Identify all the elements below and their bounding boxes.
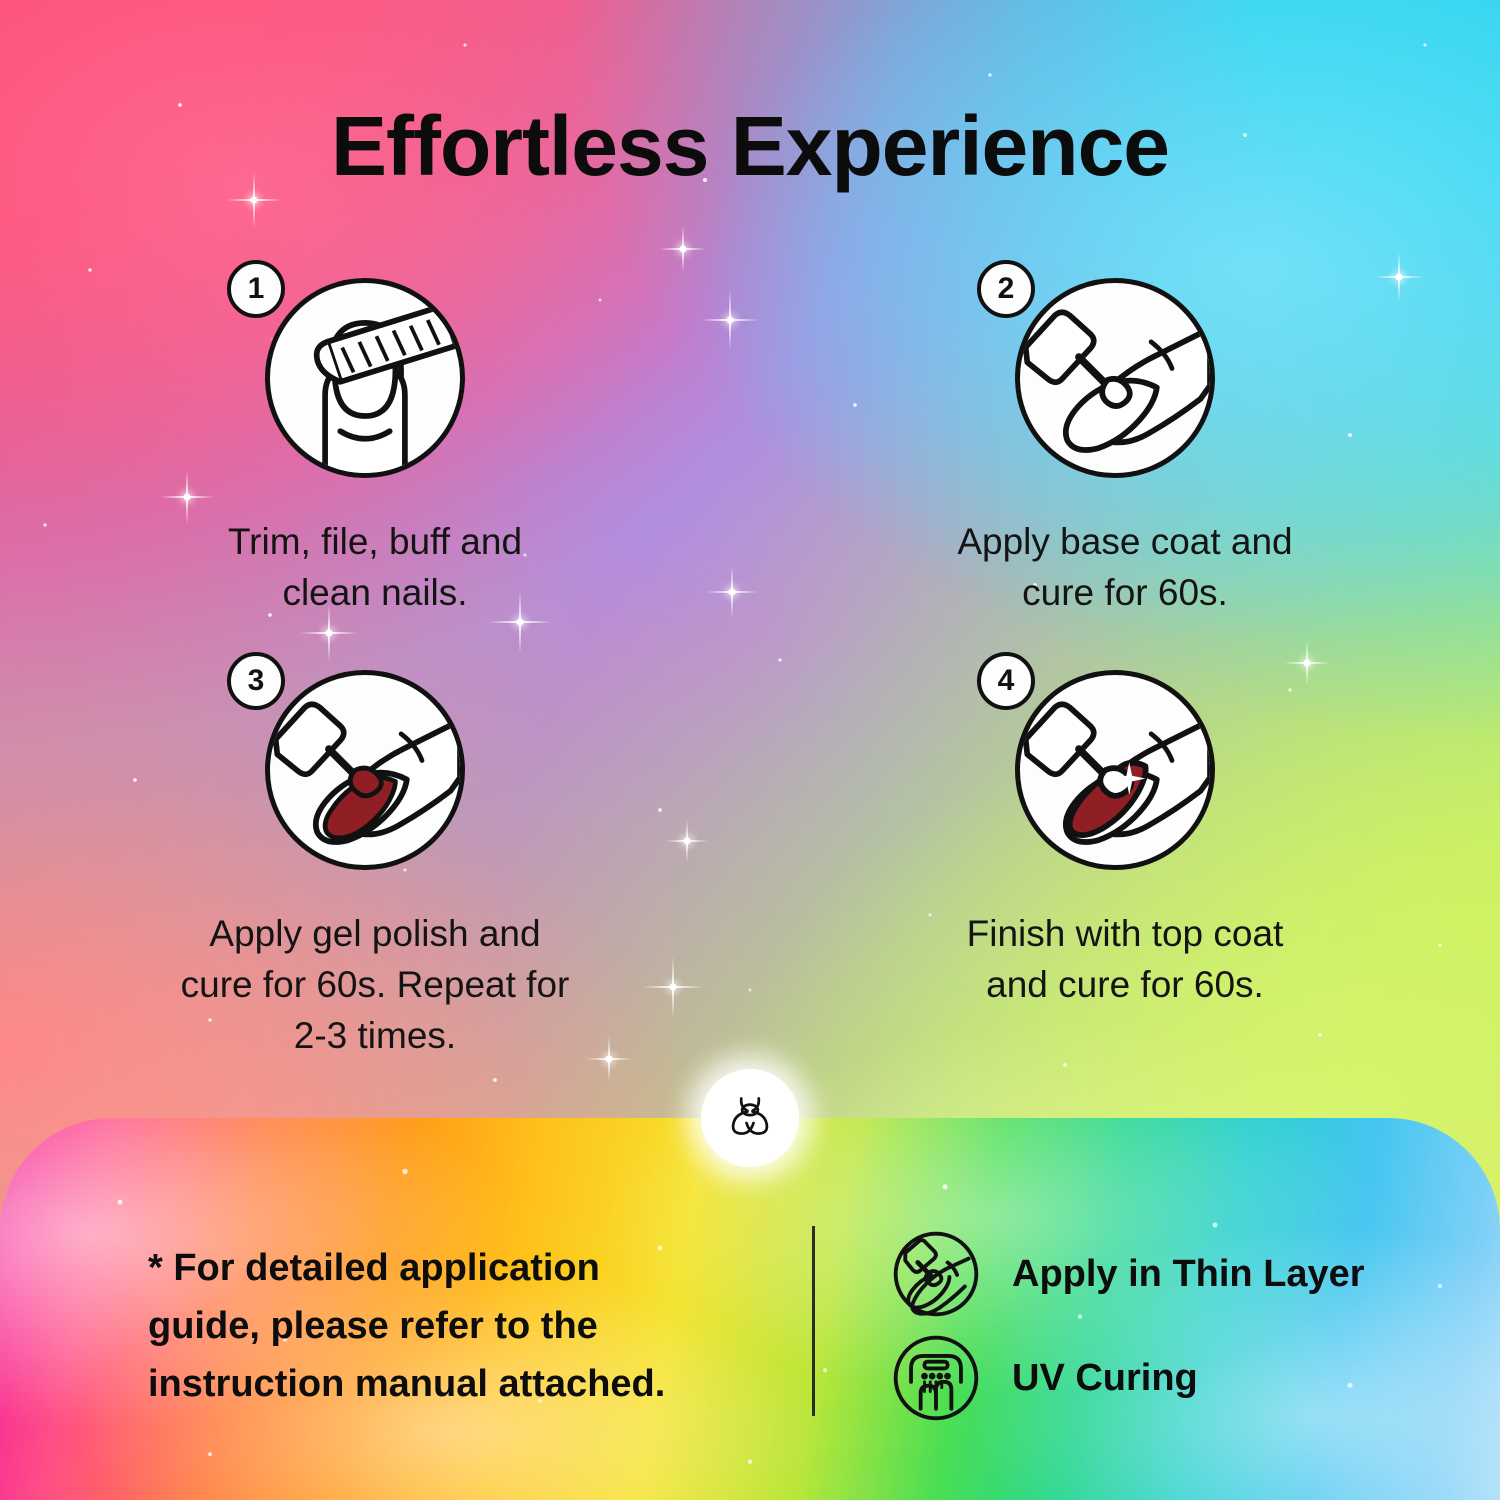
caption-line: and cure for 60s. (967, 959, 1284, 1010)
step-1-badge: 1 (227, 260, 285, 318)
brand-logo (701, 1069, 799, 1167)
feature-label: Apply in Thin Layer (1012, 1253, 1365, 1296)
feature-label: UV Curing (1012, 1357, 1198, 1400)
step-3-badge: 3 (227, 652, 285, 710)
caption-line: Finish with top coat (967, 908, 1284, 959)
caption-line: cure for 60s. Repeat for (181, 959, 570, 1010)
note-line: instruction manual attached. (148, 1356, 768, 1414)
steps-grid: 1 Trim, file, buff and clean nails. (0, 278, 1500, 1061)
note-line: guide, please refer to the (148, 1298, 768, 1356)
caption-line: Apply base coat and (957, 516, 1292, 567)
caption-line: clean nails. (228, 567, 522, 618)
base-coat-brush-icon (1015, 278, 1215, 478)
feature-apply-thin-layer: Apply in Thin Layer (888, 1226, 1365, 1322)
page-title: Effortless Experience (0, 98, 1500, 195)
steps-row-1: 1 Trim, file, buff and clean nails. (0, 278, 1500, 618)
bottom-banner: * For detailed application guide, please… (0, 1118, 1500, 1500)
top-coat-brush-icon (1015, 670, 1215, 870)
steps-row-2: 3 Apply gel polish and cure for 60s. Rep… (0, 670, 1500, 1061)
application-note: * For detailed application guide, please… (148, 1240, 768, 1413)
step-1-illustration-wrap: 1 (265, 278, 485, 498)
caption-line: 2-3 times. (181, 1010, 570, 1061)
gel-polish-brush-icon (265, 670, 465, 870)
step-4: 4 Finish with top coat and cure for 60s. (750, 670, 1500, 1061)
butterfly-logo-icon (722, 1088, 778, 1149)
poster: Effortless Experience (0, 0, 1500, 1500)
step-2: 2 Apply base coat and cure for 60s. (750, 278, 1500, 618)
step-4-caption: Finish with top coat and cure for 60s. (967, 908, 1284, 1010)
feature-list: Apply in Thin Layer (888, 1226, 1365, 1426)
step-2-badge: 2 (977, 260, 1035, 318)
step-2-caption: Apply base coat and cure for 60s. (957, 516, 1292, 618)
nail-file-icon (265, 278, 465, 478)
step-3-illustration-wrap: 3 (265, 670, 485, 890)
note-line: * For detailed application (148, 1240, 768, 1298)
step-1: 1 Trim, file, buff and clean nails. (0, 278, 750, 618)
step-4-badge: 4 (977, 652, 1035, 710)
thin-layer-brush-icon (888, 1226, 984, 1322)
step-3: 3 Apply gel polish and cure for 60s. Rep… (0, 670, 750, 1061)
step-1-caption: Trim, file, buff and clean nails. (228, 516, 522, 618)
caption-line: Apply gel polish and (181, 908, 570, 959)
step-4-illustration-wrap: 4 (1015, 670, 1235, 890)
feature-uv-curing: UV Curing (888, 1330, 1365, 1426)
vertical-divider (812, 1226, 815, 1416)
uv-lamp-icon (888, 1330, 984, 1426)
caption-line: Trim, file, buff and (228, 516, 522, 567)
step-3-caption: Apply gel polish and cure for 60s. Repea… (181, 908, 570, 1061)
caption-line: cure for 60s. (957, 567, 1292, 618)
step-2-illustration-wrap: 2 (1015, 278, 1235, 498)
